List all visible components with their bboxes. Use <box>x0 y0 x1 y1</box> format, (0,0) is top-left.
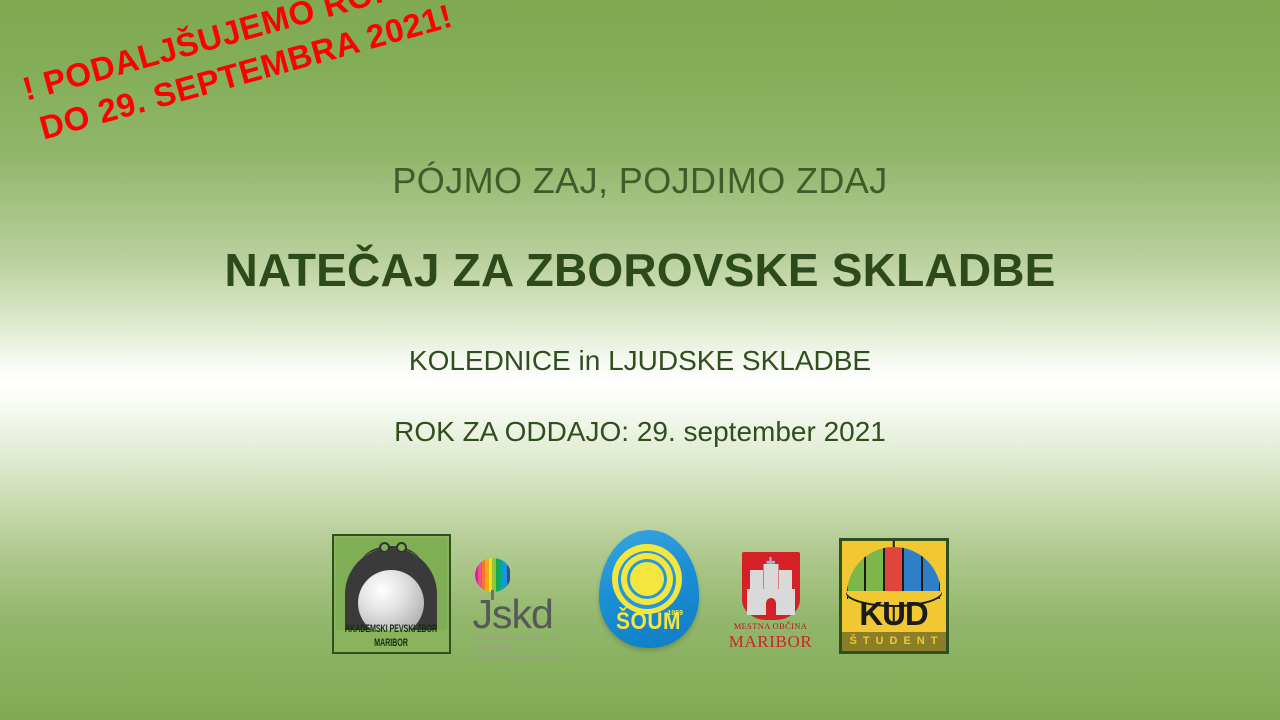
logo-mestna-obcina-maribor: MESTNA OBČINA MARIBOR <box>725 552 817 654</box>
poster-kicker: PÓJMO ZAJ, POJDIMO ZDAJ <box>0 160 1280 202</box>
maribor-caption-line-1: MESTNA OBČINA <box>725 622 817 631</box>
maribor-gate-shape <box>766 598 776 615</box>
jskd-rainbow-icon <box>475 558 511 592</box>
apz-maribor-icon: AKADEMSKI PEVSKI ZBOR MARIBOR <box>332 534 451 654</box>
poster-deadline: ROK ZA ODDAJO: 29. september 2021 <box>0 416 1280 448</box>
kud-student-icon: KUD ŠTUDENT <box>839 538 949 654</box>
jskd-subtitle: JAVNI SKLAD REPUBLIKE SLOVENIJE ZA KULTU… <box>475 634 573 662</box>
logo-jskd: Jskd JAVNI SKLAD REPUBLIKE SLOVENIJE ZA … <box>473 558 573 654</box>
jskd-subtitle-line-1: JAVNI SKLAD REPUBLIKE SLOVENIJE <box>475 634 573 653</box>
kud-wordmark: KUD <box>842 597 946 630</box>
apz-artwork <box>336 538 447 630</box>
apz-knob-right-icon <box>396 542 407 553</box>
maribor-shield-icon <box>742 552 800 620</box>
deadline-extension-stamp: ! PODALJŠUJEMO ROK ! DO 29. SEPTEMBRA 20… <box>18 0 542 151</box>
logo-kud-student: KUD ŠTUDENT <box>839 538 949 654</box>
soum-year-label: 1959 <box>668 610 684 617</box>
jskd-wordmark: Jskd <box>473 594 553 635</box>
soum-wordmark: ŠOUM <box>595 608 703 636</box>
apz-knob-left-icon <box>379 542 390 553</box>
logo-apz-maribor: AKADEMSKI PEVSKI ZBOR MARIBOR <box>332 534 451 654</box>
kud-student-band: ŠTUDENT <box>842 632 946 651</box>
jskd-subtitle-line-2: ZA KULTURNE DEJAVNOSTI <box>475 653 573 662</box>
poster-canvas: ! PODALJŠUJEMO ROK ! DO 29. SEPTEMBRA 20… <box>0 0 1280 720</box>
soum-ring-5-icon <box>630 562 664 596</box>
logo-strip: AKADEMSKI PEVSKI ZBOR MARIBOR Jskd JAVNI… <box>0 524 1280 654</box>
poster-title: NATEČAJ ZA ZBOROVSKE SKLADBE <box>0 243 1280 297</box>
poster-subtitle: KOLEDNICE in LJUDSKE SKLADBE <box>0 345 1280 377</box>
maribor-caption-line-2: MARIBOR <box>725 632 817 652</box>
apz-caption: AKADEMSKI PEVSKI ZBOR MARIBOR <box>334 621 449 649</box>
logo-soum: ŠOUM 1959 <box>595 530 703 654</box>
apz-clasp-icon <box>361 546 421 564</box>
maribor-keep-shape <box>763 564 778 590</box>
